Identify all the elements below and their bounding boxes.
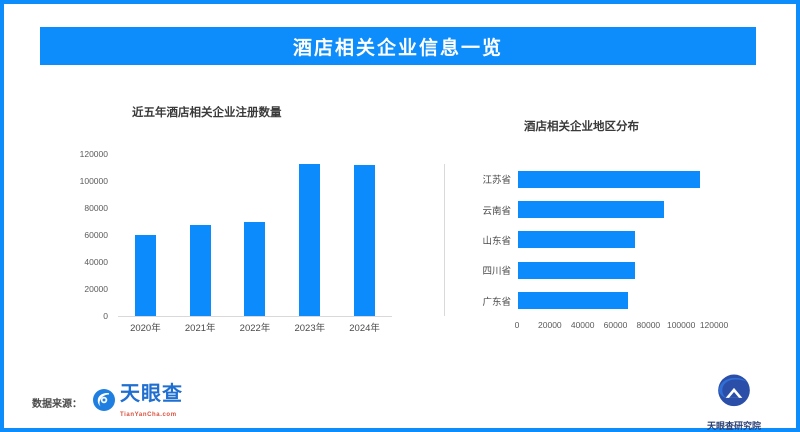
data-source-label: 数据来源： xyxy=(32,395,82,410)
y-axis-tick: 40000 xyxy=(84,257,108,267)
x-axis-label: 2022年 xyxy=(229,320,281,334)
bar-row[interactable]: 云南省 xyxy=(518,194,764,224)
chart-title-registrations: 近五年酒店相关企业注册数量 xyxy=(132,104,282,120)
horizontal-chart-plot: 江苏省云南省山东省四川省广东省 020000400006000080000100… xyxy=(444,164,764,344)
bar-2020年[interactable] xyxy=(135,235,156,316)
category-label-广东省: 广东省 xyxy=(482,294,511,308)
x-axis-tick: 20000 xyxy=(538,320,562,330)
registrations-bar-chart: 近五年酒店相关企业注册数量 02000040000600008000010000… xyxy=(44,96,404,346)
chart-title-regional: 酒店相关企业地区分布 xyxy=(524,118,639,134)
institute-logo: 天眼查研究院 xyxy=(698,372,770,432)
data-source: 数据来源： 天眼查 TianYanCha.com xyxy=(32,384,183,420)
y-axis-tick: 0 xyxy=(103,311,108,321)
tianyancha-mark-icon xyxy=(92,388,116,417)
x-axis-label: 2023年 xyxy=(284,320,336,334)
bar-column[interactable] xyxy=(229,154,281,316)
bar-江苏省[interactable] xyxy=(518,171,700,188)
x-axis-label: 2024年 xyxy=(339,320,391,334)
bar-广东省[interactable] xyxy=(518,292,628,309)
y-axis-tick: 80000 xyxy=(84,203,108,213)
infographic-page: 酒店相关企业信息一览 近五年酒店相关企业注册数量 020000400006000… xyxy=(0,0,800,432)
y-axis-tick-labels: 020000400006000080000100000120000 xyxy=(62,154,112,316)
bar-row[interactable]: 广东省 xyxy=(518,286,764,316)
institute-name: 天眼查研究院 xyxy=(707,419,761,432)
bar-column[interactable] xyxy=(174,154,226,316)
horizontal-x-axis-tick-labels: 020000400006000080000100000120000 xyxy=(517,320,714,334)
category-label-江苏省: 江苏省 xyxy=(482,172,511,186)
x-axis-tick: 60000 xyxy=(604,320,628,330)
bar-2023年[interactable] xyxy=(299,164,320,316)
bar-云南省[interactable] xyxy=(518,201,664,218)
category-label-云南省: 云南省 xyxy=(482,203,511,217)
bar-column[interactable] xyxy=(339,154,391,316)
tianyancha-name-cn: 天眼查 xyxy=(120,383,183,405)
x-axis-tick: 120000 xyxy=(700,320,728,330)
bar-山东省[interactable] xyxy=(518,231,635,248)
category-label-四川省: 四川省 xyxy=(482,263,511,277)
x-axis-tick: 80000 xyxy=(637,320,661,330)
x-axis-tick: 0 xyxy=(515,320,520,330)
x-axis-label: 2020年 xyxy=(119,320,171,334)
y-axis-tick: 60000 xyxy=(84,230,108,240)
bar-column[interactable] xyxy=(119,154,171,316)
bar-四川省[interactable] xyxy=(518,262,635,279)
page-title: 酒店相关企业信息一览 xyxy=(293,33,503,60)
tianyancha-name-en: TianYanCha.com xyxy=(120,412,177,418)
bar-2024年[interactable] xyxy=(354,165,375,316)
bar-2022年[interactable] xyxy=(244,222,265,317)
x-axis-tick: 40000 xyxy=(571,320,595,330)
title-banner: 酒店相关企业信息一览 xyxy=(40,27,756,65)
bar-column[interactable] xyxy=(284,154,336,316)
institute-mark-icon xyxy=(712,372,756,417)
tianyancha-wordmark: 天眼查 TianYanCha.com xyxy=(120,384,183,420)
y-axis-tick: 120000 xyxy=(80,149,108,159)
bar-row[interactable]: 江苏省 xyxy=(518,164,764,194)
bar-2021年[interactable] xyxy=(190,225,211,316)
horizontal-bars-area: 江苏省云南省山东省四川省广东省 xyxy=(444,164,764,316)
bar-row[interactable]: 山东省 xyxy=(518,225,764,255)
x-axis-label: 2021年 xyxy=(174,320,226,334)
vertical-bars-area xyxy=(118,154,392,317)
y-axis-tick: 100000 xyxy=(80,176,108,186)
y-axis-tick: 20000 xyxy=(84,284,108,294)
regional-distribution-bar-chart: 酒店相关企业地区分布 江苏省云南省山东省四川省广东省 0200004000060… xyxy=(434,96,774,356)
x-axis-category-labels: 2020年2021年2022年2023年2024年 xyxy=(118,320,392,334)
vertical-chart-plot: 020000400006000080000100000120000 2020年2… xyxy=(62,154,392,326)
tianyancha-logo: 天眼查 TianYanCha.com xyxy=(92,384,183,420)
category-label-山东省: 山东省 xyxy=(482,233,511,247)
bar-row[interactable]: 四川省 xyxy=(518,255,764,285)
x-axis-tick: 100000 xyxy=(667,320,695,330)
